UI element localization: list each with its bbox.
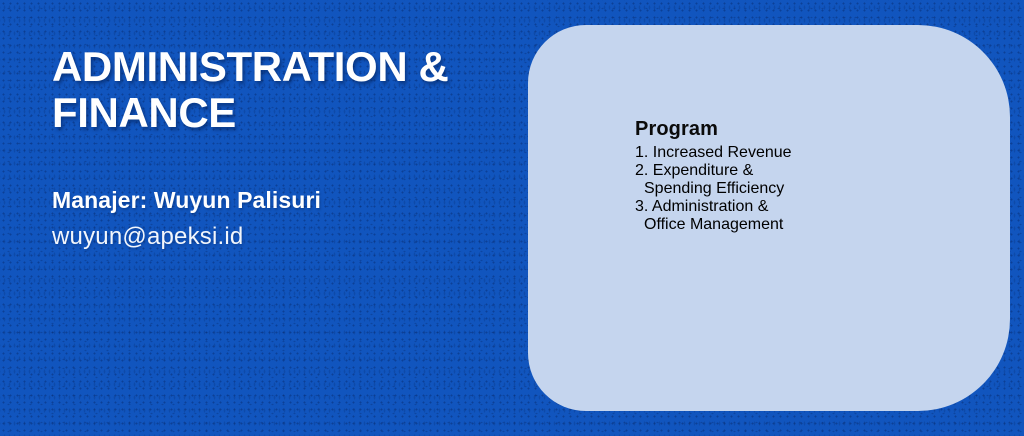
- left-column: Administration & Finance Manajer: Wuyun …: [52, 0, 512, 436]
- program-card: Program 1. Increased Revenue 2. Expendit…: [528, 25, 1010, 411]
- list-item-continuation: Office Management: [635, 216, 792, 234]
- slide-canvas: Administration & Finance Manajer: Wuyun …: [0, 0, 1024, 436]
- list-item: 3. Administration &: [635, 198, 792, 216]
- manager-email[interactable]: wuyun@apeksi.id: [52, 222, 243, 252]
- list-item: 1. Increased Revenue: [635, 144, 792, 162]
- list-item-continuation: Spending Efficiency: [635, 180, 792, 198]
- page-title: Administration & Finance: [52, 44, 522, 136]
- manager-name: Manajer: Wuyun Palisuri: [52, 186, 321, 214]
- list-item: 2. Expenditure &: [635, 162, 792, 180]
- program-heading: Program: [635, 115, 792, 144]
- program-list: Program 1. Increased Revenue 2. Expendit…: [635, 115, 792, 234]
